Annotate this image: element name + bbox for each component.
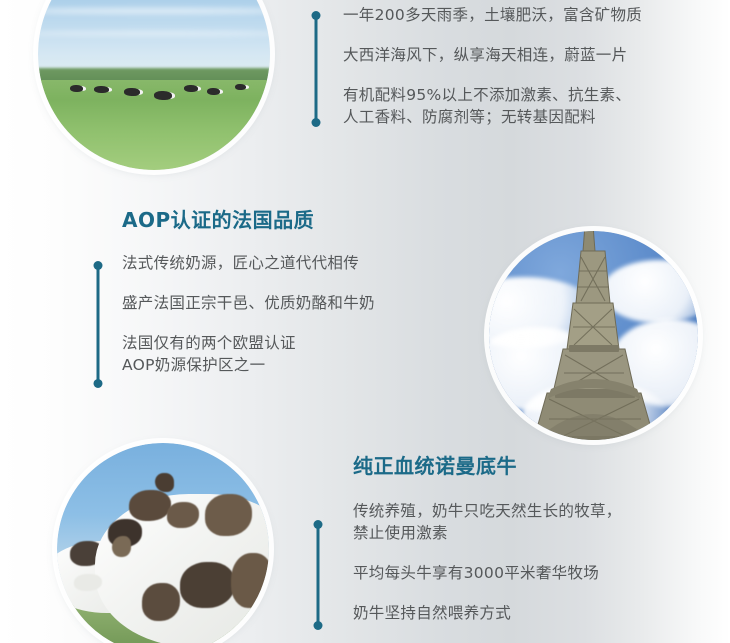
bullet-item: 奶牛坚持自然喂养方式 (353, 602, 723, 624)
bullet-item: 法国仅有的两个欧盟认证 AOP奶源保护区之一 (122, 332, 482, 376)
connector-rail (316, 522, 319, 628)
connector-dot-top (93, 261, 102, 270)
cow-patch (231, 553, 269, 608)
bullet-item: 一年200多天雨季，土壤肥沃，富含矿物质 (343, 4, 713, 26)
connector-dot-bottom (311, 118, 320, 127)
cow-silhouette (94, 86, 109, 93)
bullet-list-normande: 传统养殖，奶牛只吃天然生长的牧草， 禁止使用激素 平均每头牛享有3000平米奢华… (353, 500, 723, 624)
connector-dot-bottom (313, 621, 322, 630)
section-aop: AOP认证的法国品质 法式传统奶源，匠心之道代代相传 盛产法国正宗干邑、优质奶酪… (122, 210, 482, 376)
photo-pasture (38, 0, 270, 170)
cow-silhouette (184, 85, 198, 92)
cow-silhouette (124, 88, 140, 96)
connector-dot-bottom (93, 379, 102, 388)
cow-patch (205, 494, 252, 536)
cow-muzzle (74, 574, 102, 591)
bullet-connector-aop (93, 263, 102, 386)
cloud-band (38, 8, 270, 14)
connector-dot-top (311, 11, 320, 20)
bullet-item: 有机配料95%以上不添加激素、抗生素、 人工香料、防腐剂等；无转基因配料 (343, 84, 713, 128)
bullet-connector-terroir (311, 13, 320, 125)
promo-page: 一年200多天雨季，土壤肥沃，富含矿物质 大西洋海风下，纵享海天相连，蔚蓝一片 … (0, 0, 730, 643)
cow-patch (167, 502, 199, 527)
section-heading-normande: 纯正血统诺曼底牛 (353, 456, 723, 476)
cow-silhouette (154, 91, 172, 100)
section-normande: 纯正血统诺曼底牛 传统养殖，奶牛只吃天然生长的牧草， 禁止使用激素 平均每头牛享… (353, 456, 723, 624)
section-terroir: 一年200多天雨季，土壤肥沃，富含矿物质 大西洋海风下，纵享海天相连，蔚蓝一片 … (343, 4, 713, 128)
bullet-item: 法式传统奶源，匠心之道代代相传 (122, 252, 482, 274)
bullet-item: 平均每头牛享有3000平米奢华牧场 (353, 562, 723, 584)
connector-dot-top (313, 520, 322, 529)
bullet-connector-normande (313, 522, 322, 628)
connector-rail (314, 13, 317, 125)
cow-ear (155, 473, 174, 492)
connector-rail (96, 263, 99, 386)
photo-eiffel-tower (489, 231, 698, 440)
bullet-list-terroir: 一年200多天雨季，土壤肥沃，富含矿物质 大西洋海风下，纵享海天相连，蔚蓝一片 … (343, 4, 713, 128)
bullet-item: 大西洋海风下，纵享海天相连，蔚蓝一片 (343, 44, 713, 66)
cow-patch (142, 583, 180, 621)
eiffel-tower-illustration (489, 231, 698, 440)
cow-silhouette (207, 88, 220, 95)
bullet-item: 传统养殖，奶牛只吃天然生长的牧草， 禁止使用激素 (353, 500, 723, 544)
section-heading-aop: AOP认证的法国品质 (122, 210, 482, 230)
cow-silhouette (235, 84, 246, 90)
bullet-item: 盛产法国正宗干邑、优质奶酪和牛奶 (122, 292, 482, 314)
bullet-list-aop: 法式传统奶源，匠心之道代代相传 盛产法国正宗干邑、优质奶酪和牛奶 法国仅有的两个… (122, 252, 482, 376)
photo-normande-cows (57, 443, 269, 643)
cow-ear (112, 536, 131, 557)
cloud-band (38, 31, 270, 36)
